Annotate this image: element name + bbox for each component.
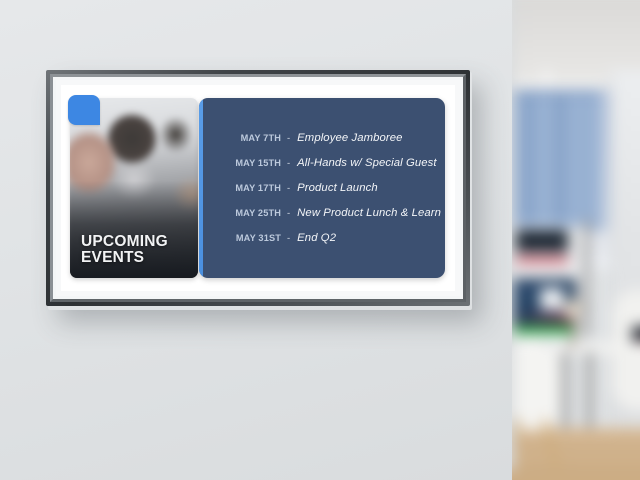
office-background: [512, 0, 640, 480]
list-item: MAY 17TH - Product Launch: [207, 182, 435, 194]
right-wall: [608, 70, 640, 480]
event-name: All-Hands w/ Special Guest: [297, 157, 436, 169]
slide-title: UPCOMING EVENTS: [81, 234, 192, 266]
event-name: New Product Lunch & Learn: [297, 207, 441, 219]
event-separator: -: [281, 183, 297, 194]
ceiling-light-icon: [544, 70, 549, 84]
list-item: MAY 31ST - End Q2: [207, 232, 435, 244]
partition-pole: [584, 218, 590, 338]
event-separator: -: [281, 233, 297, 244]
event-date: MAY 25TH: [207, 208, 281, 218]
event-separator: -: [281, 133, 297, 144]
slide-title-line-1: UPCOMING: [81, 234, 192, 250]
list-item: MAY 25TH - New Product Lunch & Learn: [207, 207, 435, 219]
event-date: MAY 17TH: [207, 183, 281, 193]
event-separator: -: [281, 208, 297, 219]
list-item: MAY 15TH - All-Hands w/ Special Guest: [207, 157, 435, 169]
event-name: Product Launch: [297, 182, 378, 194]
events-panel: MAY 7TH - Employee Jamboree MAY 15TH - A…: [199, 98, 445, 278]
slide-canvas: UPCOMING EVENTS MAY 7TH - Employee Jambo…: [61, 85, 455, 291]
lamp-bulb: [566, 308, 576, 318]
white-chair: [512, 340, 560, 430]
event-date: MAY 31ST: [207, 233, 281, 243]
event-date: MAY 15TH: [207, 158, 281, 168]
poster-panel-red: [516, 256, 568, 264]
slide-title-line-2: EVENTS: [81, 250, 192, 266]
screenshot-scene: UPCOMING EVENTS MAY 7TH - Employee Jambo…: [0, 0, 640, 480]
event-separator: -: [281, 158, 297, 169]
photo-card: UPCOMING EVENTS: [70, 98, 198, 278]
event-date: MAY 7TH: [207, 133, 281, 143]
poster-panel-dark: [516, 230, 568, 252]
wood-floor: [512, 428, 640, 480]
corner-accent-icon: [68, 95, 100, 125]
list-item: MAY 7TH - Employee Jamboree: [207, 132, 435, 144]
event-name: End Q2: [297, 232, 336, 244]
events-list: MAY 7TH - Employee Jamboree MAY 15TH - A…: [203, 98, 445, 278]
event-name: Employee Jamboree: [297, 132, 402, 144]
wall-edge-band: [512, 0, 514, 470]
